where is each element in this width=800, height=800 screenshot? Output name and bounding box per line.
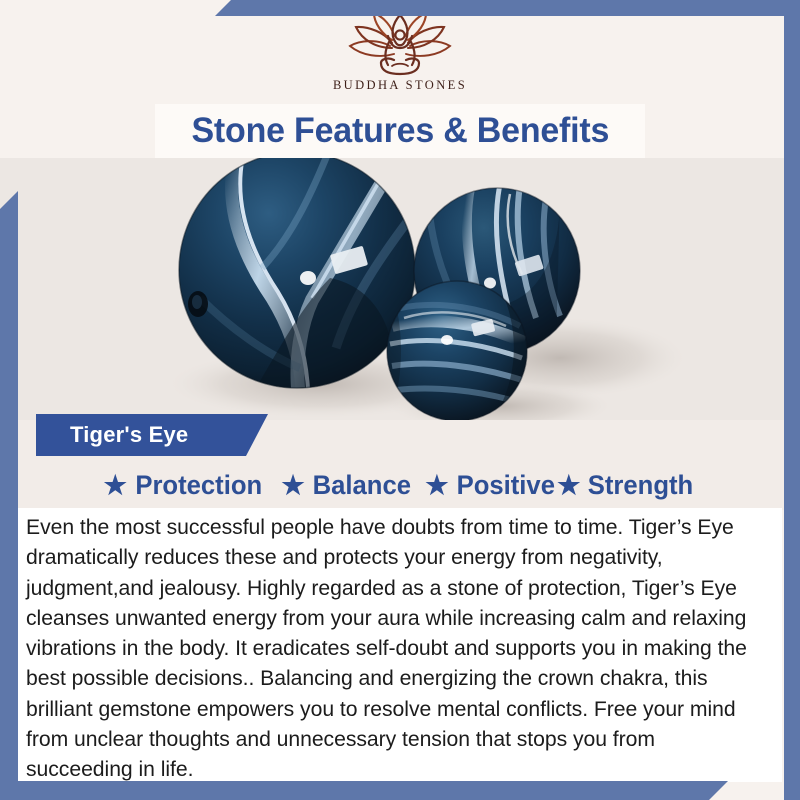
frame-accent-right	[784, 0, 800, 800]
brand-header: BUDDHA STONES	[0, 0, 800, 108]
stone-name-ribbon: Tiger's Eye	[36, 414, 268, 456]
keyword-label: Positive	[456, 470, 554, 501]
star-icon: ★	[104, 472, 127, 498]
keyword-label: Strength	[588, 470, 693, 501]
keyword-positive: ★ Positive	[425, 470, 557, 501]
stone-name: Tiger's Eye	[70, 422, 188, 448]
keyword-balance: ★ Balance	[281, 470, 413, 501]
frame-accent-bottom	[0, 781, 728, 800]
star-icon: ★	[425, 472, 448, 498]
frame-accent-top	[215, 0, 800, 16]
keyword-label: Protection	[135, 470, 262, 501]
lotus-meditation-icon	[336, 10, 464, 76]
description-panel: Even the most successful people have dou…	[18, 508, 782, 782]
keyword-protection: ★ Protection	[104, 470, 266, 501]
keyword-row: ★ Protection ★ Balance ★ Positive ★ Stre…	[0, 462, 800, 508]
poster-canvas: BUDDHA STONES Stone Features & Benefits	[0, 0, 800, 800]
page-title: Stone Features & Benefits	[191, 111, 609, 151]
star-icon: ★	[557, 472, 580, 498]
keyword-label: Balance	[312, 470, 410, 501]
description-text: Even the most successful people have dou…	[26, 512, 763, 785]
keyword-strength: ★ Strength	[557, 470, 696, 501]
brand-name: BUDDHA STONES	[333, 78, 467, 93]
gemstone-photo	[0, 158, 800, 420]
frame-accent-left	[0, 191, 18, 800]
title-band: Stone Features & Benefits	[155, 104, 645, 158]
star-icon: ★	[281, 472, 304, 498]
